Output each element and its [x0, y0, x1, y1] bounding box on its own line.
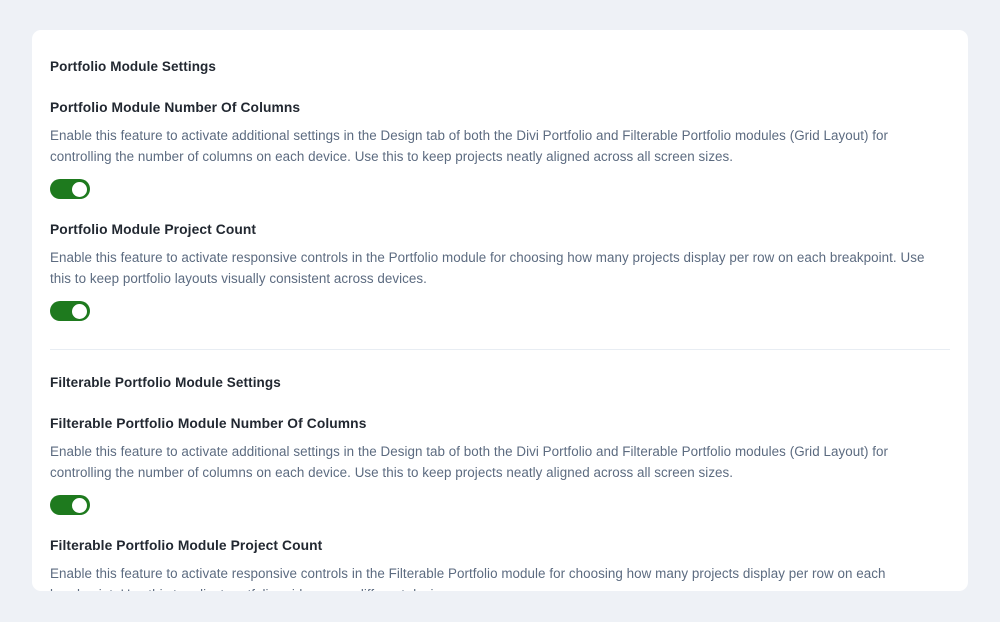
- setting-description: Enable this feature to activate responsi…: [50, 564, 940, 591]
- settings-page: Portfolio Module Settings Portfolio Modu…: [0, 0, 1000, 622]
- toggle-knob: [72, 182, 87, 197]
- toggle-filterable-portfolio-module-number-of-columns[interactable]: [50, 495, 90, 515]
- toggle-knob: [72, 498, 87, 513]
- setting-filterable-portfolio-module-number-of-columns: Filterable Portfolio Module Number Of Co…: [50, 415, 950, 515]
- setting-filterable-portfolio-module-project-count: Filterable Portfolio Module Project Coun…: [50, 537, 950, 591]
- toggle-portfolio-module-number-of-columns[interactable]: [50, 179, 90, 199]
- settings-card: Portfolio Module Settings Portfolio Modu…: [32, 30, 968, 591]
- setting-portfolio-module-project-count: Portfolio Module Project Count Enable th…: [50, 221, 950, 321]
- section-filterable-portfolio-module-settings: Filterable Portfolio Module Settings Fil…: [50, 374, 950, 591]
- toggle-row: [50, 301, 950, 321]
- setting-title: Filterable Portfolio Module Number Of Co…: [50, 415, 950, 433]
- setting-title: Portfolio Module Number Of Columns: [50, 99, 950, 117]
- toggle-row: [50, 179, 950, 199]
- setting-title: Portfolio Module Project Count: [50, 221, 950, 239]
- setting-description: Enable this feature to activate addition…: [50, 126, 940, 167]
- section-title: Portfolio Module Settings: [50, 58, 950, 76]
- setting-description: Enable this feature to activate responsi…: [50, 248, 940, 289]
- toggle-row: [50, 495, 950, 515]
- section-portfolio-module-settings: Portfolio Module Settings Portfolio Modu…: [50, 58, 950, 321]
- settings-card-body: Portfolio Module Settings Portfolio Modu…: [50, 58, 950, 591]
- toggle-portfolio-module-project-count[interactable]: [50, 301, 90, 321]
- section-title: Filterable Portfolio Module Settings: [50, 374, 950, 392]
- setting-title: Filterable Portfolio Module Project Coun…: [50, 537, 950, 555]
- section-divider: [50, 349, 950, 350]
- setting-description: Enable this feature to activate addition…: [50, 442, 940, 483]
- setting-portfolio-module-number-of-columns: Portfolio Module Number Of Columns Enabl…: [50, 99, 950, 199]
- toggle-knob: [72, 304, 87, 319]
